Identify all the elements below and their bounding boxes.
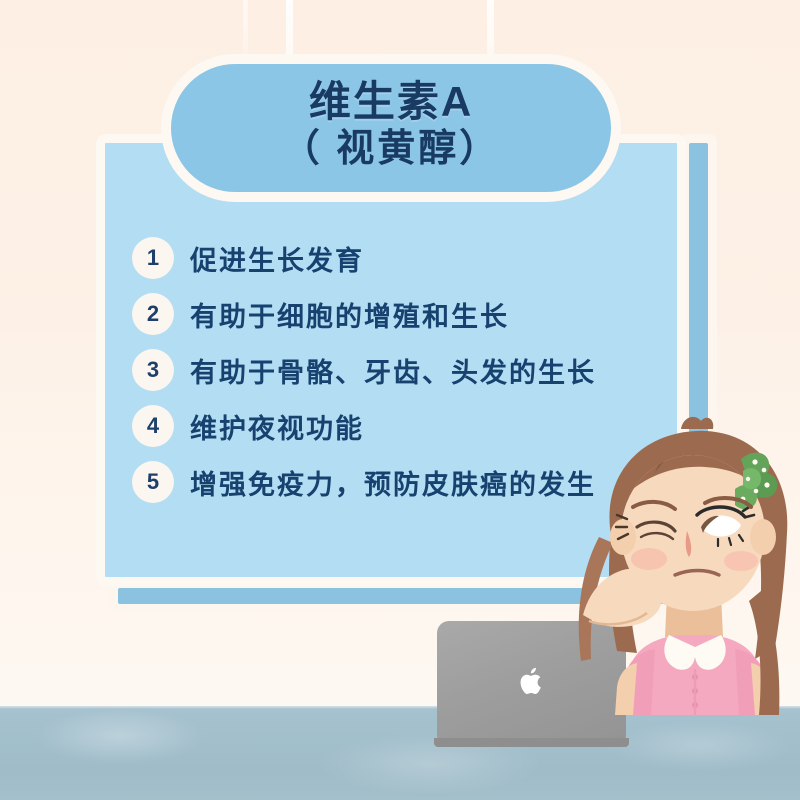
list-item: 3 有助于骨骼、牙齿、头发的生长 xyxy=(132,348,677,392)
ear-right xyxy=(750,519,776,555)
list-item-number-badge: 3 xyxy=(132,349,174,391)
poster-title-secondary: （ 视黄醇） xyxy=(282,124,501,175)
list-item-number-badge: 2 xyxy=(132,293,174,335)
list-item-number-badge: 5 xyxy=(132,461,174,503)
desk-surface xyxy=(0,706,800,800)
list-item: 1 促进生长发育 xyxy=(132,236,677,280)
cheek-left xyxy=(631,548,667,570)
wall-panel-seam xyxy=(243,0,248,62)
list-item-number-badge: 1 xyxy=(132,237,174,279)
title-pill: 维生素A （ 视黄醇） xyxy=(161,54,621,202)
list-item-label: 增强免疫力，预防皮肤癌的发生 xyxy=(190,463,596,502)
list-item-number-badge: 4 xyxy=(132,405,174,447)
girl-illustration xyxy=(555,415,800,715)
list-item-label: 有助于骨骼、牙齿、头发的生长 xyxy=(190,351,596,390)
list-item-label: 有助于细胞的增殖和生长 xyxy=(190,295,509,334)
list-item-label: 促进生长发育 xyxy=(190,239,364,278)
list-item: 2 有助于细胞的增殖和生长 xyxy=(132,292,677,336)
cheek-right xyxy=(724,551,758,571)
poster-title-primary: 维生素A xyxy=(309,80,473,124)
list-item-label: 维护夜视功能 xyxy=(190,407,364,446)
hair-tuft xyxy=(681,417,713,429)
laptop-base xyxy=(434,738,629,747)
apple-logo-icon xyxy=(518,665,546,698)
vitamin-a-infographic-poster: 维生素A （ 视黄醇） 1 促进生长发育 2 有助于细胞的增殖和生长 3 有助于… xyxy=(0,0,800,800)
